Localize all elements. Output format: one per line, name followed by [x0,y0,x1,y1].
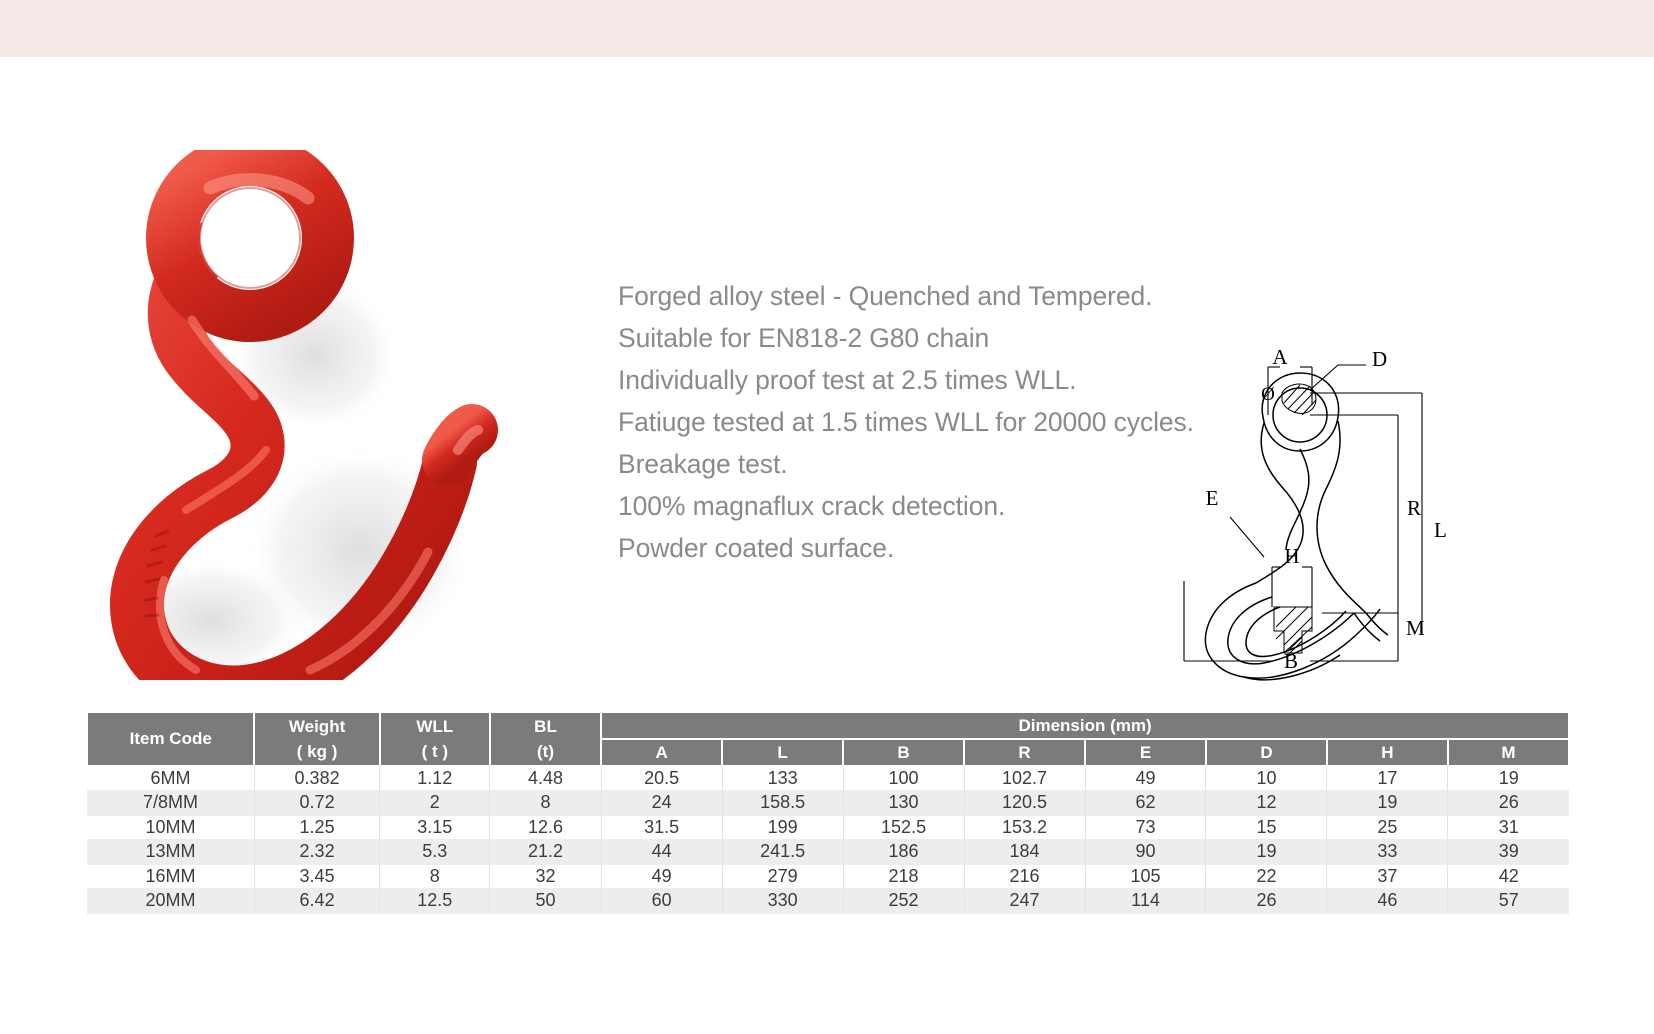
label-e: E [1206,486,1219,510]
cell-dim-m: 26 [1448,791,1569,816]
cell-dim-d: 12 [1206,791,1327,816]
cell-dim-d: 15 [1206,815,1327,840]
header-row-1: Item Code Weight ( kg ) WLL ( t ) BL (t)… [87,712,1569,739]
header-dim-b: B [843,739,964,766]
cell-bl: 12.6 [490,815,601,840]
label-d: D [1372,347,1387,371]
cell-dim-b: 152.5 [843,815,964,840]
table-header: Item Code Weight ( kg ) WLL ( t ) BL (t)… [87,712,1569,766]
cell-dim-l: 133 [722,766,843,791]
header-bl-unit: (t) [491,739,600,764]
feature-line-6: 100% magnaflux crack detection. [618,485,1208,527]
product-spec-page: Forged alloy steel - Quenched and Temper… [0,0,1654,1034]
dim-h [1272,567,1312,607]
cell-dim-a: 24 [601,791,722,816]
cell-dim-e: 62 [1085,791,1206,816]
cell-bl: 4.48 [490,766,601,791]
cell-item-code: 16MM [87,864,254,889]
cell-dim-e: 114 [1085,889,1206,914]
cell-wll: 3.15 [380,815,490,840]
dim-r [1310,415,1398,613]
cell-dim-a: 49 [601,864,722,889]
cell-weight: 6.42 [254,889,379,914]
cell-dim-l: 279 [722,864,843,889]
technical-drawing: A D Ø E R L H M B [1160,345,1500,690]
cell-dim-e: 73 [1085,815,1206,840]
header-dim-m: M [1448,739,1569,766]
header-dim-h: H [1327,739,1448,766]
table-row: 6MM 0.382 1.12 4.48 20.5 133 100 102.7 4… [87,766,1569,791]
cell-wll: 2 [380,791,490,816]
cell-item-code: 20MM [87,889,254,914]
feature-line-7: Powder coated surface. [618,527,1208,569]
cell-dim-m: 57 [1448,889,1569,914]
label-b: B [1284,649,1298,673]
feature-line-2: Suitable for EN818-2 G80 chain [618,317,1208,359]
table-body: 6MM 0.382 1.12 4.48 20.5 133 100 102.7 4… [87,766,1569,913]
cell-dim-e: 49 [1085,766,1206,791]
header-dim-r: R [964,739,1085,766]
header-weight-unit: ( kg ) [255,739,378,764]
cell-dim-e: 105 [1085,864,1206,889]
product-photo [60,150,540,680]
top-banner [0,0,1654,57]
cell-dim-h: 37 [1327,864,1448,889]
header-dim-e: E [1085,739,1206,766]
header-weight: Weight ( kg ) [254,712,379,766]
cell-weight: 3.45 [254,864,379,889]
cell-dim-m: 42 [1448,864,1569,889]
cell-dim-b: 100 [843,766,964,791]
dim-l-top [1310,393,1422,635]
cell-dim-a: 31.5 [601,815,722,840]
cell-item-code: 13MM [87,840,254,865]
cell-weight: 0.72 [254,791,379,816]
label-h: H [1284,544,1299,568]
cell-bl: 50 [490,889,601,914]
cell-dim-e: 90 [1085,840,1206,865]
feature-line-4: Fatiuge tested at 1.5 times WLL for 2000… [618,401,1208,443]
cell-dim-d: 26 [1206,889,1327,914]
feature-list: Forged alloy steel - Quenched and Temper… [618,275,1208,569]
cell-dim-r: 120.5 [964,791,1085,816]
header-bl-title: BL [491,714,600,739]
header-dimension-group: Dimension (mm) [601,712,1569,739]
feature-line-5: Breakage test. [618,443,1208,485]
header-item-code: Item Code [87,712,254,766]
header-wll-unit: ( t ) [381,739,489,764]
cell-dim-m: 39 [1448,840,1569,865]
cell-dim-h: 25 [1327,815,1448,840]
cell-dim-r: 247 [964,889,1085,914]
cell-wll: 8 [380,864,490,889]
label-l: L [1434,518,1447,542]
label-m: M [1406,616,1425,640]
hook-outline [1205,373,1388,680]
cell-bl: 8 [490,791,601,816]
table-row: 7/8MM 0.72 2 8 24 158.5 130 120.5 62 12 … [87,791,1569,816]
cell-dim-l: 158.5 [722,791,843,816]
header-weight-title: Weight [255,714,378,739]
cell-item-code: 6MM [87,766,254,791]
cell-dim-h: 46 [1327,889,1448,914]
cell-dim-a: 60 [601,889,722,914]
cell-dim-l: 241.5 [722,840,843,865]
cell-dim-d: 22 [1206,864,1327,889]
table-row: 16MM 3.45 8 32 49 279 218 216 105 22 37 … [87,864,1569,889]
cell-dim-a: 20.5 [601,766,722,791]
header-dim-l: L [722,739,843,766]
cell-dim-r: 216 [964,864,1085,889]
label-diameter: Ø [1261,384,1275,405]
cell-bl: 21.2 [490,840,601,865]
label-r: R [1407,496,1421,520]
cell-wll: 12.5 [380,889,490,914]
header-wll: WLL ( t ) [380,712,490,766]
cell-dim-l: 330 [722,889,843,914]
feature-line-1: Forged alloy steel - Quenched and Temper… [618,275,1208,317]
label-a: A [1272,345,1288,369]
cell-dim-h: 33 [1327,840,1448,865]
table-row: 10MM 1.25 3.15 12.6 31.5 199 152.5 153.2… [87,815,1569,840]
cell-dim-r: 102.7 [964,766,1085,791]
cell-dim-m: 19 [1448,766,1569,791]
cell-dim-h: 19 [1327,791,1448,816]
cell-wll: 5.3 [380,840,490,865]
header-dim-d: D [1206,739,1327,766]
cell-item-code: 7/8MM [87,791,254,816]
cell-dim-r: 153.2 [964,815,1085,840]
specification-table: Item Code Weight ( kg ) WLL ( t ) BL (t)… [86,711,1570,914]
cell-dim-b: 186 [843,840,964,865]
cell-bl: 32 [490,864,601,889]
cell-wll: 1.12 [380,766,490,791]
cell-dim-b: 252 [843,889,964,914]
header-wll-title: WLL [381,714,489,739]
cell-dim-b: 218 [843,864,964,889]
table-row: 20MM 6.42 12.5 50 60 330 252 247 114 26 … [87,889,1569,914]
cell-dim-l: 199 [722,815,843,840]
cell-item-code: 10MM [87,815,254,840]
cell-dim-d: 10 [1206,766,1327,791]
cell-dim-d: 19 [1206,840,1327,865]
dim-e [1230,517,1264,557]
cell-dim-h: 17 [1327,766,1448,791]
cell-dim-r: 184 [964,840,1085,865]
cell-dim-m: 31 [1448,815,1569,840]
cell-weight: 0.382 [254,766,379,791]
feature-line-3: Individually proof test at 2.5 times WLL… [618,359,1208,401]
cell-dim-b: 130 [843,791,964,816]
cell-dim-a: 44 [601,840,722,865]
cell-weight: 1.25 [254,815,379,840]
table-row: 13MM 2.32 5.3 21.2 44 241.5 186 184 90 1… [87,840,1569,865]
header-bl: BL (t) [490,712,601,766]
header-dim-a: A [601,739,722,766]
cell-weight: 2.32 [254,840,379,865]
